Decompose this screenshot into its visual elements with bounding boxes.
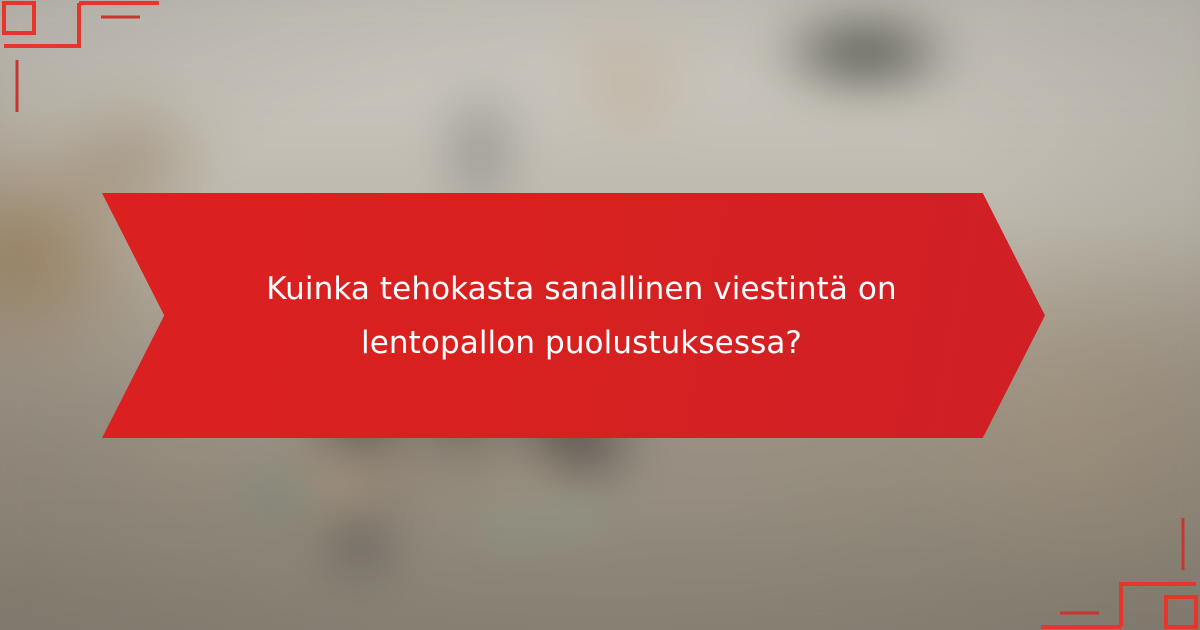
headline-banner: Kuinka tehokasta sanallinen viestintä on… xyxy=(102,193,1045,438)
share-card-canvas: Kuinka tehokasta sanallinen viestintä on… xyxy=(0,0,1200,630)
headline-text: Kuinka tehokasta sanallinen viestintä on… xyxy=(232,262,932,370)
